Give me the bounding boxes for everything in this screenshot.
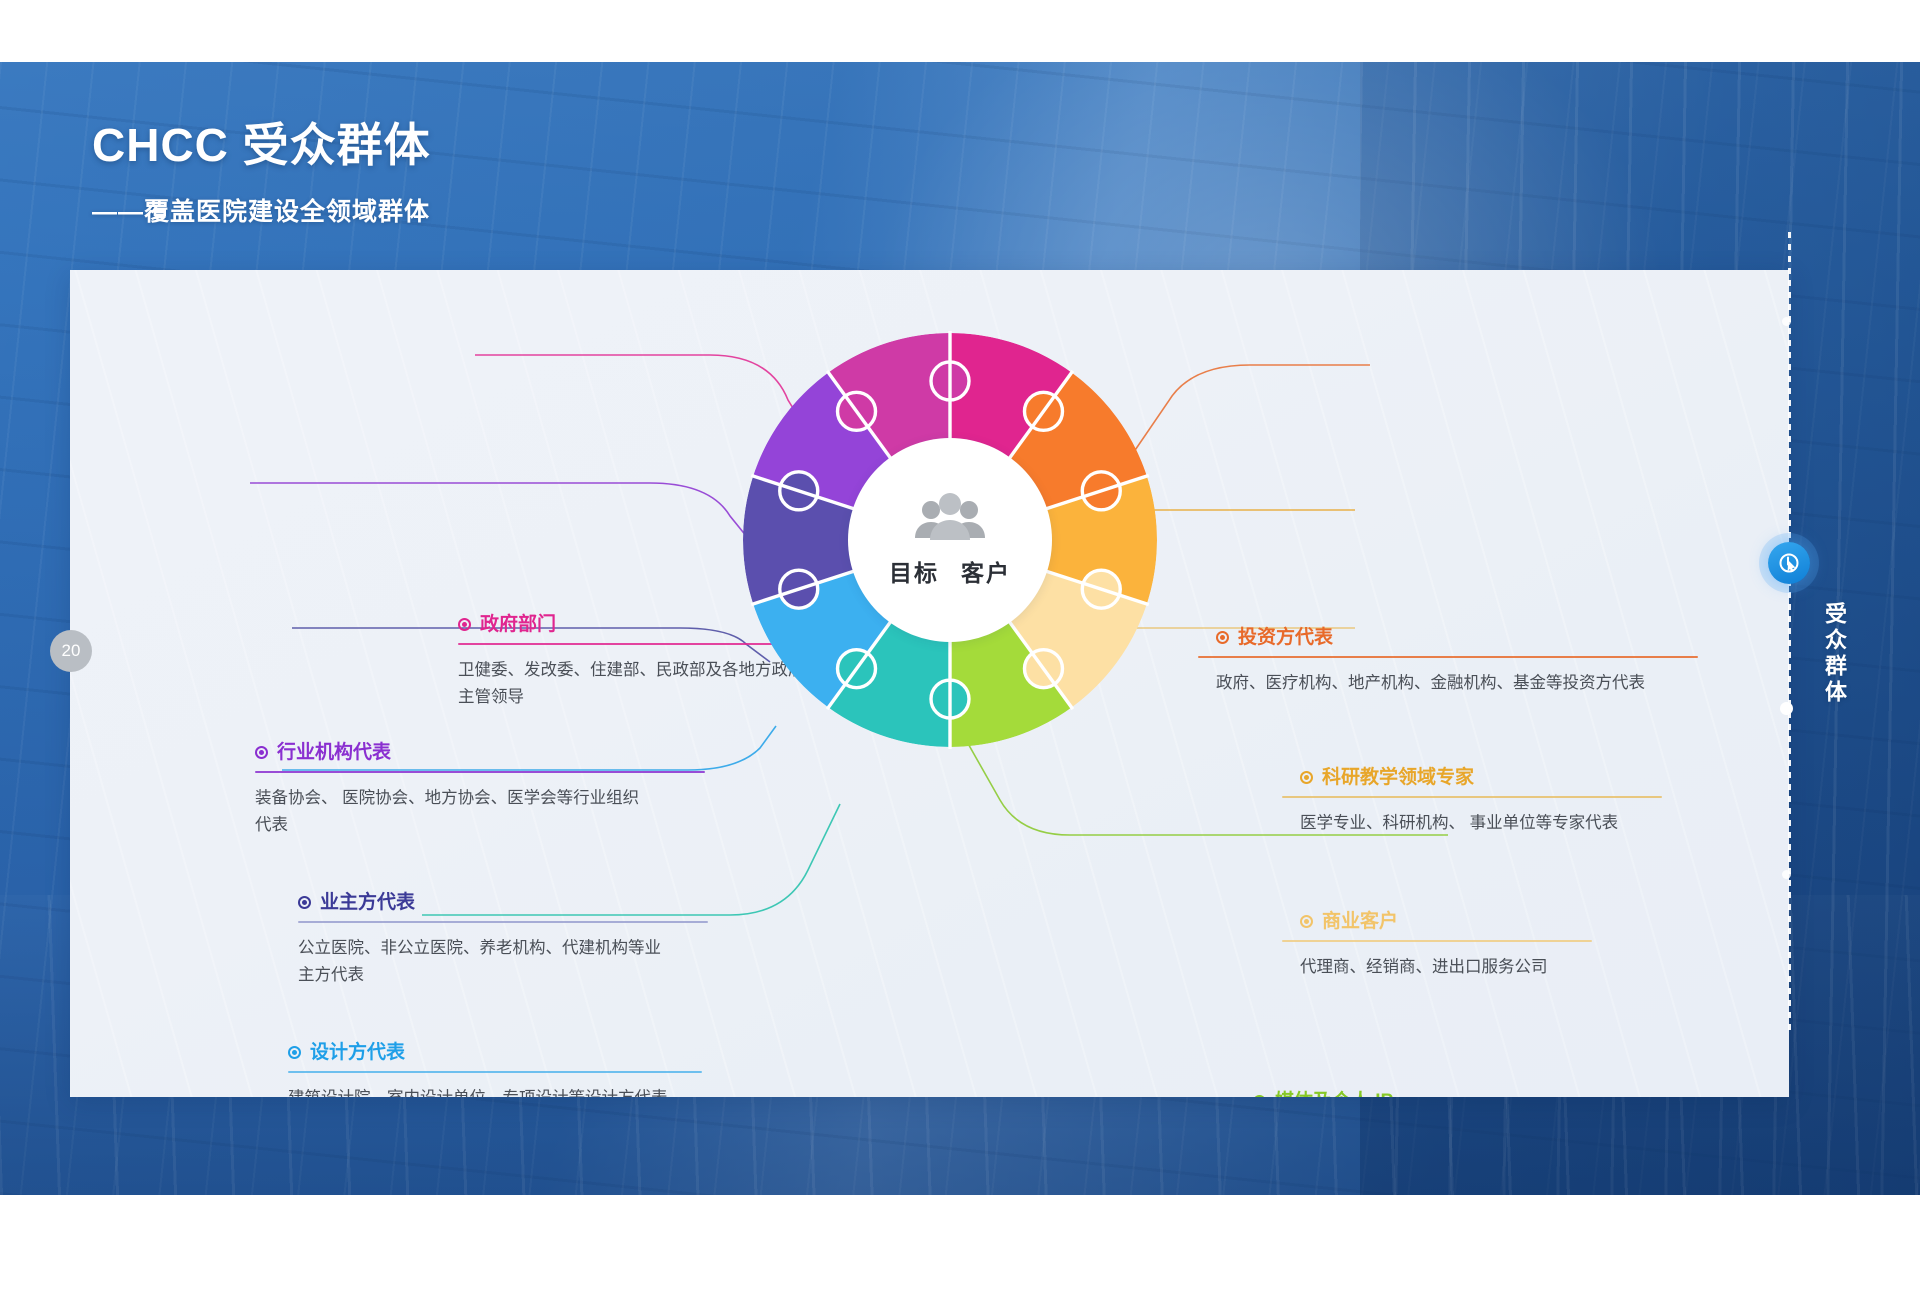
info-title-owner: 业主方代表 bbox=[320, 893, 415, 912]
rail-node-dot-2 bbox=[1782, 870, 1791, 879]
rail-label: 受众群体 bbox=[1818, 602, 1850, 706]
bullet-icon-research-expert bbox=[1300, 771, 1313, 784]
hub-word-goal: 目标 bbox=[889, 554, 939, 588]
bullet-icon-commercial-client bbox=[1300, 915, 1313, 928]
info-desc-industry-org: 装备协会、 医院协会、地方协会、医学会等行业组织 代表 bbox=[255, 785, 705, 839]
slide-canvas: CHCC 受众群体 ——覆盖医院建设全领域群体 20 受众群体 bbox=[0, 0, 1920, 1302]
bullet-icon-designer bbox=[288, 1046, 301, 1059]
info-block-designer[interactable]: 设计方代表 建筑设计院、室内设计单位、专项设计等设计方代表 bbox=[288, 1043, 702, 1097]
puzzle-wheel: 目标客户 bbox=[740, 330, 1160, 750]
info-block-media-ip[interactable]: 媒体及个人 IP 央媒、大众媒体、行业媒体、新兴平台型媒体、 医院建设 相关领域… bbox=[1235, 1092, 1705, 1097]
info-title-designer: 设计方代表 bbox=[310, 1043, 405, 1062]
info-title-media-ip: 媒体及个人 IP bbox=[1275, 1092, 1393, 1097]
right-rail: 受众群体 bbox=[1740, 62, 1860, 1195]
info-rule-designer bbox=[288, 1071, 702, 1073]
hub-word-client: 客户 bbox=[961, 554, 1011, 588]
info-desc-designer: 建筑设计院、室内设计单位、专项设计等设计方代表 bbox=[288, 1085, 702, 1097]
page-number-badge: 20 bbox=[50, 630, 92, 672]
hub-labels: 目标客户 bbox=[889, 554, 1011, 588]
info-rule-investor bbox=[1198, 656, 1698, 658]
bullet-icon-investor bbox=[1216, 631, 1229, 644]
info-desc-commercial-client: 代理商、经销商、进出口服务公司 bbox=[1300, 954, 1592, 981]
info-title-government: 政府部门 bbox=[480, 615, 556, 634]
info-rule-commercial-client bbox=[1282, 940, 1592, 942]
info-title-commercial-client: 商业客户 bbox=[1322, 912, 1398, 931]
rail-dotted-line bbox=[1788, 232, 1791, 1032]
bullet-icon-media-ip bbox=[1253, 1095, 1266, 1097]
info-desc-owner: 公立医院、非公立医院、养老机构、代建机构等业 主方代表 bbox=[298, 935, 708, 989]
info-block-research-expert[interactable]: 科研教学领域专家 医学专业、科研机构、 事业单位等专家代表 bbox=[1282, 768, 1662, 837]
rail-node-dot-3 bbox=[1782, 317, 1791, 326]
bullet-icon-government bbox=[458, 618, 471, 631]
page-title: CHCC 受众群体 bbox=[92, 122, 431, 168]
content-card: 政府部门 卫健委、发改委、住建部、民政部及各地方政府 主管领导 行业机构代表 装… bbox=[70, 270, 1789, 1097]
rail-node-dot-1 bbox=[1780, 702, 1793, 715]
bullet-icon-industry-org bbox=[255, 746, 268, 759]
info-desc-research-expert: 医学专业、科研机构、 事业单位等专家代表 bbox=[1300, 810, 1662, 837]
info-title-industry-org: 行业机构代表 bbox=[277, 743, 391, 762]
info-rule-owner bbox=[298, 921, 708, 923]
people-group-icon bbox=[911, 492, 989, 544]
info-title-investor: 投资方代表 bbox=[1238, 628, 1333, 647]
info-block-owner[interactable]: 业主方代表 公立医院、非公立医院、养老机构、代建机构等业 主方代表 bbox=[298, 893, 708, 989]
wheel-hub: 目标客户 bbox=[848, 438, 1052, 642]
cursor-click-icon[interactable] bbox=[1768, 542, 1810, 584]
bullet-icon-owner bbox=[298, 896, 311, 909]
info-block-investor[interactable]: 投资方代表 政府、医疗机构、地产机构、金融机构、基金等投资方代表 bbox=[1198, 628, 1698, 697]
info-title-research-expert: 科研教学领域专家 bbox=[1322, 768, 1474, 787]
page-subtitle: ——覆盖医院建设全领域群体 bbox=[92, 200, 430, 225]
info-rule-industry-org bbox=[255, 771, 705, 773]
info-rule-research-expert bbox=[1282, 796, 1662, 798]
info-block-commercial-client[interactable]: 商业客户 代理商、经销商、进出口服务公司 bbox=[1282, 912, 1592, 981]
info-desc-investor: 政府、医疗机构、地产机构、金融机构、基金等投资方代表 bbox=[1216, 670, 1698, 697]
info-block-industry-org[interactable]: 行业机构代表 装备协会、 医院协会、地方协会、医学会等行业组织 代表 bbox=[255, 743, 705, 839]
